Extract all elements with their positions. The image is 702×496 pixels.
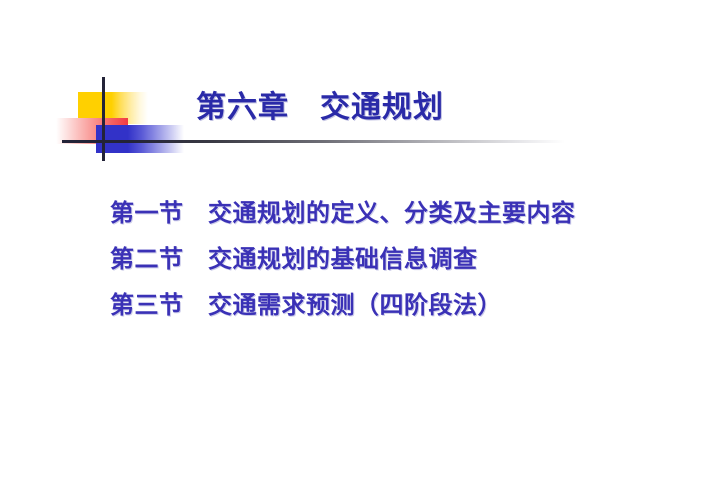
contents-item-section-3: 第三节 交通需求预测（四阶段法） bbox=[110, 282, 670, 328]
presentation-slide: 第六章 交通规划 第一节 交通规划的定义、分类及主要内容 第二节 交通规划的基础… bbox=[0, 0, 702, 496]
red-block-icon bbox=[56, 118, 128, 144]
vertical-rule-icon bbox=[102, 77, 105, 161]
contents-item-section-1: 第一节 交通规划的定义、分类及主要内容 bbox=[110, 190, 670, 236]
blue-block-icon bbox=[96, 125, 184, 153]
contents-item-section-2: 第二节 交通规划的基础信息调查 bbox=[110, 236, 670, 282]
yellow-block-icon bbox=[78, 92, 148, 124]
horizontal-rule-icon bbox=[62, 140, 565, 143]
slide-title: 第六章 交通规划 bbox=[196, 88, 444, 128]
slide-contents-list: 第一节 交通规划的定义、分类及主要内容 第二节 交通规划的基础信息调查 第三节 … bbox=[110, 190, 670, 328]
